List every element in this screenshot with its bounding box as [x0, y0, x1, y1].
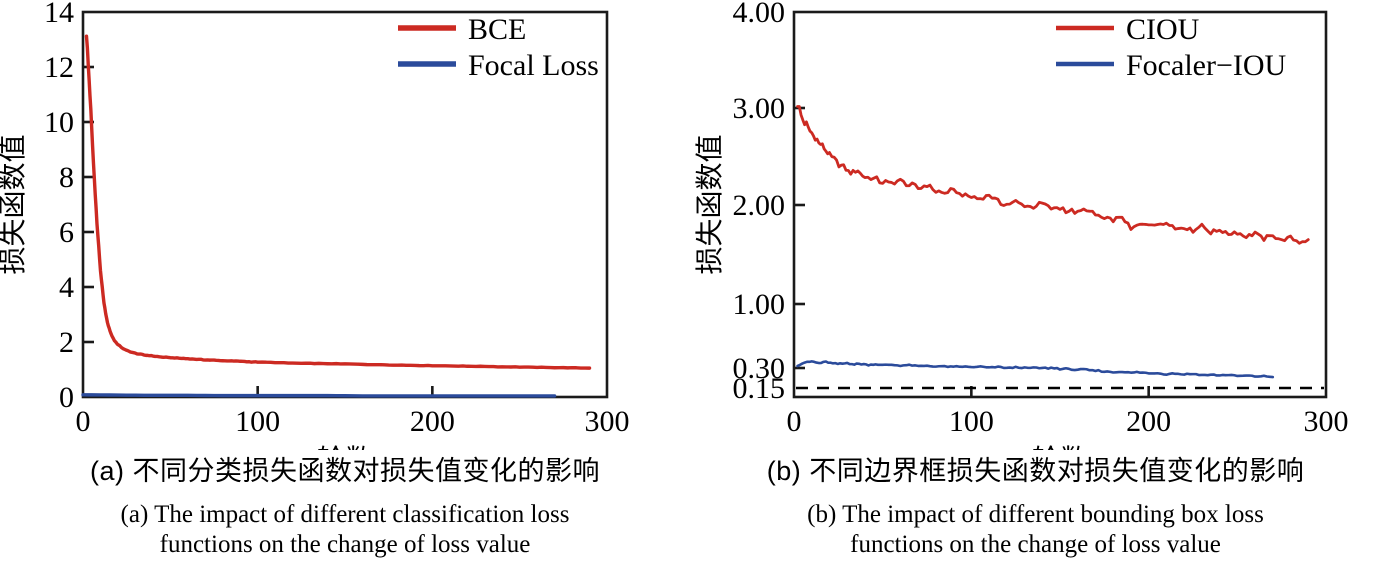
- y-axis-title: 损失函数值: [0, 134, 28, 274]
- y-axis-title: 损失函数值: [694, 134, 725, 274]
- x-axis-tick-label: 100: [235, 405, 280, 438]
- caption-a-english: (a) The impact of different classificati…: [0, 500, 690, 559]
- series-line-bce: [86, 36, 589, 368]
- legend-label-focaler-iou: Focaler−IOU: [1126, 49, 1287, 82]
- x-axis-tick-label: 300: [1303, 405, 1348, 438]
- y-axis-tick-label: 12: [44, 51, 74, 84]
- legend-label-bce: BCE: [468, 13, 526, 46]
- chart-a-svg: 024681012140100200300轮数损失函数值BCEFocal Los…: [0, 0, 690, 450]
- caption-b-english-line1: (b) The impact of different bounding box…: [691, 500, 1381, 530]
- caption-b-english: (b) The impact of different bounding box…: [691, 500, 1381, 559]
- y-axis-tick-label: 4.00: [732, 0, 785, 29]
- series-line-ciou: [797, 107, 1308, 244]
- chart-b: 4.003.002.001.000.300.150100200300轮数损失函数…: [691, 0, 1381, 450]
- chart-b-svg: 4.003.002.001.000.300.150100200300轮数损失函数…: [691, 0, 1381, 450]
- panel-a: 024681012140100200300轮数损失函数值BCEFocal Los…: [0, 0, 691, 578]
- y-axis-tick-label: 0: [59, 381, 74, 414]
- caption-a-chinese: (a) 不同分类损失函数对损失值变化的影响: [0, 456, 690, 488]
- y-axis-tick-label: 4: [59, 271, 74, 304]
- x-axis-title: 轮数: [317, 444, 373, 450]
- caption-a-english-line1: (a) The impact of different classificati…: [0, 500, 690, 530]
- legend-label-focal-loss: Focal Loss: [468, 49, 599, 82]
- y-axis-tick-label: 2: [59, 326, 74, 359]
- x-axis-tick-label: 0: [76, 405, 91, 438]
- series-line-focaler-iou: [797, 361, 1272, 377]
- x-axis-tick-label: 300: [585, 405, 630, 438]
- y-axis-tick-label: 8: [59, 161, 74, 194]
- x-axis-tick-label: 200: [410, 405, 455, 438]
- series-line-focal-loss: [83, 395, 555, 396]
- y-axis-tick-label: 2.00: [732, 189, 785, 222]
- x-axis-tick-label: 0: [786, 405, 801, 438]
- figure-container: 024681012140100200300轮数损失函数值BCEFocal Los…: [0, 0, 1381, 578]
- y-axis-tick-label: 10: [44, 106, 74, 139]
- y-axis-tick-label: 6: [59, 216, 74, 249]
- x-axis-tick-label: 200: [1126, 405, 1171, 438]
- panel-b: 4.003.002.001.000.300.150100200300轮数损失函数…: [691, 0, 1381, 578]
- y-axis-tick-label: 14: [44, 0, 74, 29]
- x-axis-title: 轮数: [1031, 444, 1087, 450]
- y-axis-tick-label: 3.00: [732, 92, 785, 125]
- y-axis-tick-label: 0.15: [732, 372, 785, 405]
- chart-a: 024681012140100200300轮数损失函数值BCEFocal Los…: [0, 0, 690, 450]
- caption-b-english-line2: functions on the change of loss value: [691, 530, 1381, 560]
- y-axis-tick-label: 1.00: [732, 288, 785, 321]
- caption-b-chinese: (b) 不同边界框损失函数对损失值变化的影响: [691, 456, 1381, 488]
- caption-a-english-line2: functions on the change of loss value: [0, 530, 690, 560]
- legend-label-ciou: CIOU: [1126, 13, 1200, 46]
- x-axis-tick-label: 100: [948, 405, 993, 438]
